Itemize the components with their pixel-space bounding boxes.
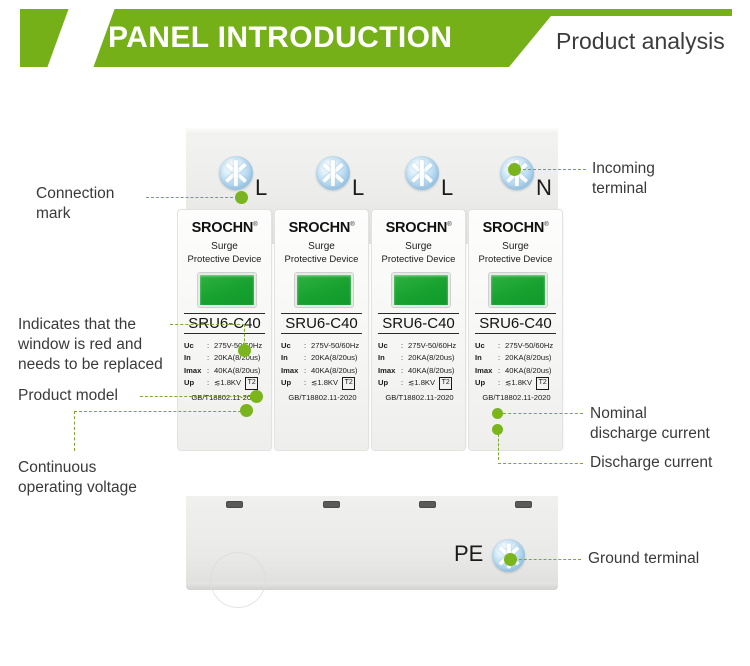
spec-row-up: Up:≲1.8KVT2 [378, 377, 461, 389]
spec-colon: : [498, 340, 505, 352]
spec-colon: : [304, 365, 311, 377]
leader-line-discharge-current [498, 463, 583, 464]
spec-colon: : [498, 377, 505, 389]
spec-row-imax: Imax:40KA(8/20us) [281, 365, 364, 377]
spd-type-badge: T2 [439, 377, 452, 389]
spec-colon: : [401, 340, 408, 352]
pe-label: PE [454, 541, 483, 567]
spec-row-imax: Imax:40KA(8/20us) [475, 365, 558, 377]
incoming-terminal-screw-1[interactable] [219, 156, 253, 190]
module-clip-tab [515, 501, 532, 508]
spec-key: In [281, 352, 304, 364]
leader-line-product-model [140, 396, 256, 397]
incoming-terminal-screw-3[interactable] [405, 156, 439, 190]
leader-line-window-red-h [170, 324, 245, 325]
spec-colon: : [498, 365, 505, 377]
terminal-letter-0: L [255, 175, 267, 201]
spec-value: 20KA(8/20us) [311, 352, 357, 364]
product-model-label: SRU6-C40 [281, 313, 362, 334]
spec-key: In [378, 352, 401, 364]
annotation-operating-voltage: Continuous operating voltage [18, 458, 218, 498]
leader-line-nominal-discharge [503, 413, 583, 414]
terminal-letter-2: L [441, 175, 453, 201]
standard-label: GB/T18802.11-2020 [377, 393, 462, 402]
spec-value: 40KA(8/20us) [311, 365, 357, 377]
brand-name: SROCHN [483, 220, 545, 236]
product-line-2: Protective Device [372, 254, 465, 265]
spec-colon: : [207, 377, 214, 389]
leader-line-discharge-current-v [498, 434, 499, 460]
spec-key: Uc [378, 340, 401, 352]
spec-key: Up [475, 377, 498, 389]
annotation-ground-terminal: Ground terminal [588, 549, 750, 569]
status-indicator-window [198, 273, 256, 307]
spec-list: Uc:275V-50/60Hz In:20KA(8/20us) Imax:40K… [475, 340, 558, 390]
leader-line-incoming-terminal [518, 169, 586, 170]
product-line-1: Surge [469, 241, 562, 252]
annotation-discharge-current: Discharge current [590, 453, 750, 473]
page-header: PANEL INTRODUCTION Product analysis [20, 9, 732, 67]
spec-row-in: In:20KA(8/20us) [475, 352, 558, 364]
spec-key: In [475, 352, 498, 364]
spec-colon: : [304, 377, 311, 389]
annotation-incoming-terminal: Incoming terminal [592, 159, 742, 199]
callout-dot-product-model [250, 390, 263, 403]
page-subtitle: Product analysis [556, 16, 725, 67]
product-model-label: SRU6-C40 [378, 313, 459, 334]
spec-row-uc: Uc:275V-50/60Hz [475, 340, 558, 352]
spd-module[interactable]: SROCHN® Surge Protective Device SRU6-C40… [372, 210, 465, 450]
spd-module-row: SROCHN® Surge Protective Device SRU6-C40… [178, 210, 565, 500]
leader-line-operating-voltage-v [74, 411, 75, 451]
spec-colon: : [401, 365, 408, 377]
spec-value: ≲1.8KV [311, 377, 338, 389]
spec-value: 275V-50/60Hz [505, 340, 553, 352]
spd-type-badge: T2 [342, 377, 355, 389]
spec-row-in: In:20KA(8/20us) [378, 352, 461, 364]
leader-line-connection-mark [146, 197, 238, 198]
page-title: PANEL INTRODUCTION [108, 9, 452, 67]
spec-value: 40KA(8/20us) [505, 365, 551, 377]
spec-value: 20KA(8/20us) [505, 352, 551, 364]
spd-module[interactable]: SROCHN® Surge Protective Device SRU6-C40… [469, 210, 562, 450]
spec-key: Uc [281, 340, 304, 352]
standard-label: GB/T18802.11-2020 [280, 393, 365, 402]
product-line-1: Surge [372, 241, 465, 252]
module-clip-tab [323, 501, 340, 508]
spec-key: Up [281, 377, 304, 389]
brand-logo: SROCHN® [469, 220, 562, 236]
spec-row-up: Up:≲1.8KVT2 [475, 377, 558, 389]
spec-row-imax: Imax:40KA(8/20us) [378, 365, 461, 377]
spec-row-up: Up:≲1.8KVT2 [184, 377, 267, 389]
spec-value: 275V-50/60Hz [408, 340, 456, 352]
screw-cross-icon [405, 156, 439, 190]
registered-mark-icon: ® [350, 222, 354, 228]
status-indicator-window [295, 273, 353, 307]
leader-line-ground-terminal [514, 559, 581, 560]
spec-value: ≲1.8KV [214, 377, 241, 389]
screw-cross-icon [316, 156, 350, 190]
callout-dot-window-red [238, 344, 251, 357]
spec-row-up: Up:≲1.8KVT2 [281, 377, 364, 389]
din-rail-hole-icon [210, 552, 266, 608]
spec-colon: : [401, 352, 408, 364]
module-clip-tab [226, 501, 243, 508]
product-line-2: Protective Device [469, 254, 562, 265]
screw-cross-icon [219, 156, 253, 190]
registered-mark-icon: ® [253, 222, 257, 228]
spd-type-badge: T2 [245, 377, 258, 389]
spec-value: 40KA(8/20us) [408, 365, 454, 377]
incoming-terminal-screw-2[interactable] [316, 156, 350, 190]
spec-key: Up [184, 377, 207, 389]
spec-colon: : [401, 377, 408, 389]
annotation-nominal-discharge: Nominal discharge current [590, 404, 750, 444]
brand-logo: SROCHN® [275, 220, 368, 236]
brand-name: SROCHN [386, 220, 448, 236]
brand-name: SROCHN [192, 220, 254, 236]
registered-mark-icon: ® [544, 222, 548, 228]
callout-dot-connection-mark [235, 191, 248, 204]
product-model-label: SRU6-C40 [475, 313, 556, 334]
product-line-2: Protective Device [275, 254, 368, 265]
spec-key: Imax [281, 365, 304, 377]
product-line-1: Surge [178, 241, 271, 252]
spec-colon: : [304, 340, 311, 352]
spec-list: Uc:275V-50/60Hz In:20KA(8/20us) Imax:40K… [378, 340, 461, 390]
brand-logo: SROCHN® [372, 220, 465, 236]
spd-type-badge: T2 [536, 377, 549, 389]
terminal-letter-3: N [536, 175, 552, 201]
callout-dot-nominal-discharge [492, 408, 503, 419]
spec-value: 20KA(8/20us) [408, 352, 454, 364]
product-line-2: Protective Device [178, 254, 271, 265]
registered-mark-icon: ® [447, 222, 451, 228]
spec-colon: : [498, 352, 505, 364]
standard-label: GB/T18802.11-2020 [474, 393, 559, 402]
spec-key: Imax [475, 365, 498, 377]
spec-row-in: In:20KA(8/20us) [281, 352, 364, 364]
module-clip-tab [419, 501, 436, 508]
spec-value: ≲1.8KV [505, 377, 532, 389]
spec-list: Uc:275V-50/60Hz In:20KA(8/20us) Imax:40K… [281, 340, 364, 390]
spec-row-uc: Uc:275V-50/60Hz [378, 340, 461, 352]
spec-value: 275V-50/60Hz [311, 340, 359, 352]
spec-colon: : [304, 352, 311, 364]
terminal-letter-1: L [352, 175, 364, 201]
spec-key: Uc [475, 340, 498, 352]
leader-line-operating-voltage-h [74, 411, 246, 412]
spec-row-uc: Uc:275V-50/60Hz [281, 340, 364, 352]
annotation-connection-mark: Connection mark [36, 184, 196, 224]
brand-name: SROCHN [289, 220, 351, 236]
status-indicator-window [489, 273, 547, 307]
spec-key: Up [378, 377, 401, 389]
spec-value: ≲1.8KV [408, 377, 435, 389]
product-line-1: Surge [275, 241, 368, 252]
status-indicator-window [392, 273, 450, 307]
spec-key: Imax [378, 365, 401, 377]
spd-module[interactable]: SROCHN® Surge Protective Device SRU6-C40… [275, 210, 368, 450]
